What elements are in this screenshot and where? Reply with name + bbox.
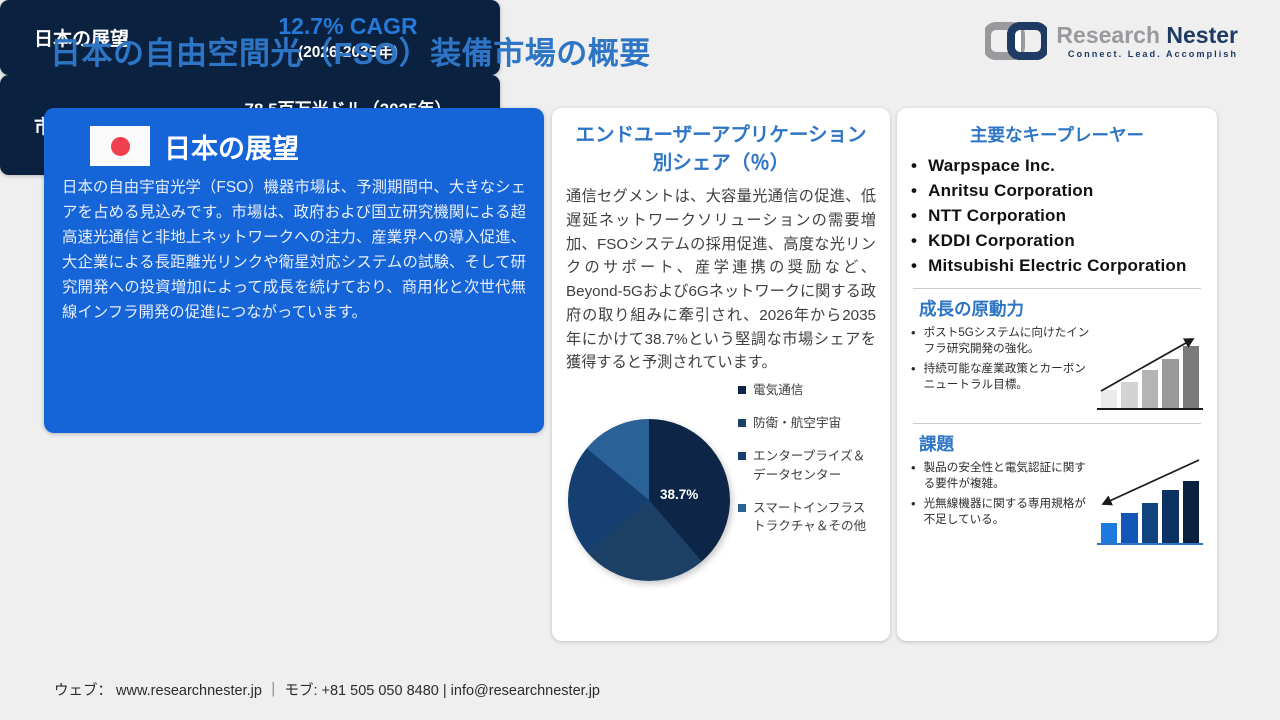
- logo-word-nester: Nester: [1166, 22, 1238, 48]
- bullet-icon: •: [911, 361, 916, 394]
- pie-legend: 電気通信防衛・航空宇宙エンタープライズ＆データセンタースマートインフラストラクチ…: [738, 381, 874, 550]
- growth-drivers-list: •ポスト5Gシステムに向けたインフラ研究開発の強化。•持続可能な産業政策とカーボ…: [911, 325, 1095, 397]
- japan-flag-icon: [90, 126, 150, 166]
- pie-graphic: 38.7%: [568, 419, 730, 581]
- legend-label: 電気通信: [753, 381, 803, 400]
- challenges-title: 課題: [919, 431, 1203, 456]
- list-item-label: ポスト5Gシステムに向けたインフラ研究開発の強化。: [924, 325, 1091, 358]
- pie-data-label: 38.7%: [660, 487, 698, 502]
- legend-label: エンタープライズ＆データセンター: [753, 447, 874, 485]
- key-players-list: •Warpspace Inc.•Anritsu Corporation•NTT …: [911, 154, 1203, 279]
- pie-card-title: エンドユーザーアプリケーション別シェア（％）: [566, 122, 876, 177]
- list-item: •NTT Corporation: [911, 204, 1203, 229]
- growth-drivers-title: 成長の原動力: [919, 296, 1203, 321]
- challenges-bar-chart: [1095, 464, 1203, 549]
- pie-card-body-text: 通信セグメントは、大容量光通信の促進、低遅延ネットワークソリューションの需要増加…: [566, 185, 876, 375]
- legend-swatch: [738, 386, 746, 394]
- company-logo: Research Nester Connect. Lead. Accomplis…: [985, 22, 1238, 60]
- list-item-label: Anritsu Corporation: [928, 179, 1093, 204]
- end-user-share-card: エンドユーザーアプリケーション別シェア（％） 通信セグメントは、大容量光通信の促…: [552, 108, 890, 641]
- infographic-page: 日本の自由空間光（FSO）装備市場の概要 Research Nester Con…: [0, 0, 1280, 720]
- growth-drivers-section: •ポスト5Gシステムに向けたインフラ研究開発の強化。•持続可能な産業政策とカーボ…: [911, 325, 1203, 414]
- pie-chart: 38.7% 電気通信防衛・航空宇宙エンタープライズ＆データセンタースマートインフ…: [566, 381, 876, 611]
- legend-item: エンタープライズ＆データセンター: [738, 447, 874, 485]
- challenges-list: •製品の安全性と電気認証に関する要件が複雑。•光無線機器に関する専用規格が不足し…: [911, 460, 1095, 532]
- outlook-title: 日本の展望: [164, 127, 299, 166]
- logo-text: Research Nester Connect. Lead. Accomplis…: [1056, 23, 1238, 59]
- japan-outlook-card: 日本の展望 日本の自由宇宙光学（FSO）機器市場は、予測期間中、大きなシェアを占…: [44, 108, 544, 433]
- list-item-label: 持続可能な産業政策とカーボンニュートラル目標。: [924, 361, 1091, 394]
- list-item: •持続可能な産業政策とカーボンニュートラル目標。: [911, 361, 1091, 394]
- bullet-icon: •: [911, 179, 917, 204]
- legend-label: スマートインフラストラクチャ＆その他: [753, 499, 874, 537]
- bullet-icon: •: [911, 325, 916, 358]
- list-item-label: 光無線機器に関する専用規格が不足している。: [924, 496, 1091, 529]
- legend-item: 防衛・航空宇宙: [738, 414, 874, 433]
- page-title: 日本の自由空間光（FSO）装備市場の概要: [50, 28, 651, 73]
- up-right-arrow-icon: [1095, 329, 1203, 414]
- logo-mark-icon: [985, 22, 1047, 60]
- list-item: •光無線機器に関する専用規格が不足している。: [911, 496, 1091, 529]
- bullet-icon: •: [911, 496, 916, 529]
- list-item: •KDDI Corporation: [911, 229, 1203, 254]
- list-item-label: Mitsubishi Electric Corporation: [928, 254, 1186, 279]
- legend-item: スマートインフラストラクチャ＆その他: [738, 499, 874, 537]
- bullet-icon: •: [911, 254, 917, 279]
- logo-word-research: Research: [1056, 22, 1160, 48]
- list-item-label: 製品の安全性と電気認証に関する要件が複雑。: [924, 460, 1091, 493]
- challenges-section: •製品の安全性と電気認証に関する要件が複雑。•光無線機器に関する専用規格が不足し…: [911, 460, 1203, 549]
- divider-1: [913, 288, 1201, 289]
- growth-drivers-bar-chart: [1095, 329, 1203, 414]
- legend-item: 電気通信: [738, 381, 874, 400]
- list-item: •Anritsu Corporation: [911, 179, 1203, 204]
- list-item: •Warpspace Inc.: [911, 154, 1203, 179]
- legend-swatch: [738, 452, 746, 460]
- bullet-icon: •: [911, 204, 917, 229]
- bullet-icon: •: [911, 154, 917, 179]
- legend-label: 防衛・航空宇宙: [753, 414, 841, 433]
- key-players-title: 主要なキープレーヤー: [911, 122, 1203, 147]
- legend-swatch: [738, 419, 746, 427]
- list-item-label: KDDI Corporation: [928, 229, 1075, 254]
- list-item-label: Warpspace Inc.: [928, 154, 1055, 179]
- legend-swatch: [738, 504, 746, 512]
- bullet-icon: •: [911, 460, 916, 493]
- divider-2: [913, 423, 1201, 424]
- logo-tagline: Connect. Lead. Accomplish: [1068, 49, 1238, 59]
- list-item-label: NTT Corporation: [928, 204, 1066, 229]
- down-left-arrow-icon: [1095, 464, 1203, 549]
- outlook-header: 日本の展望: [90, 126, 526, 166]
- pie-disc: [568, 419, 730, 581]
- list-item: •Mitsubishi Electric Corporation: [911, 254, 1203, 279]
- key-players-card: 主要なキープレーヤー •Warpspace Inc.•Anritsu Corpo…: [897, 108, 1217, 641]
- outlook-body-text: 日本の自由宇宙光学（FSO）機器市場は、予測期間中、大きなシェアを占める見込みで…: [62, 176, 526, 326]
- footer-contact: ウェブ： www.researchnester.jp ｜ モブ: +81 505…: [54, 679, 600, 700]
- list-item: •製品の安全性と電気認証に関する要件が複雑。: [911, 460, 1091, 493]
- bullet-icon: •: [911, 229, 917, 254]
- list-item: •ポスト5Gシステムに向けたインフラ研究開発の強化。: [911, 325, 1091, 358]
